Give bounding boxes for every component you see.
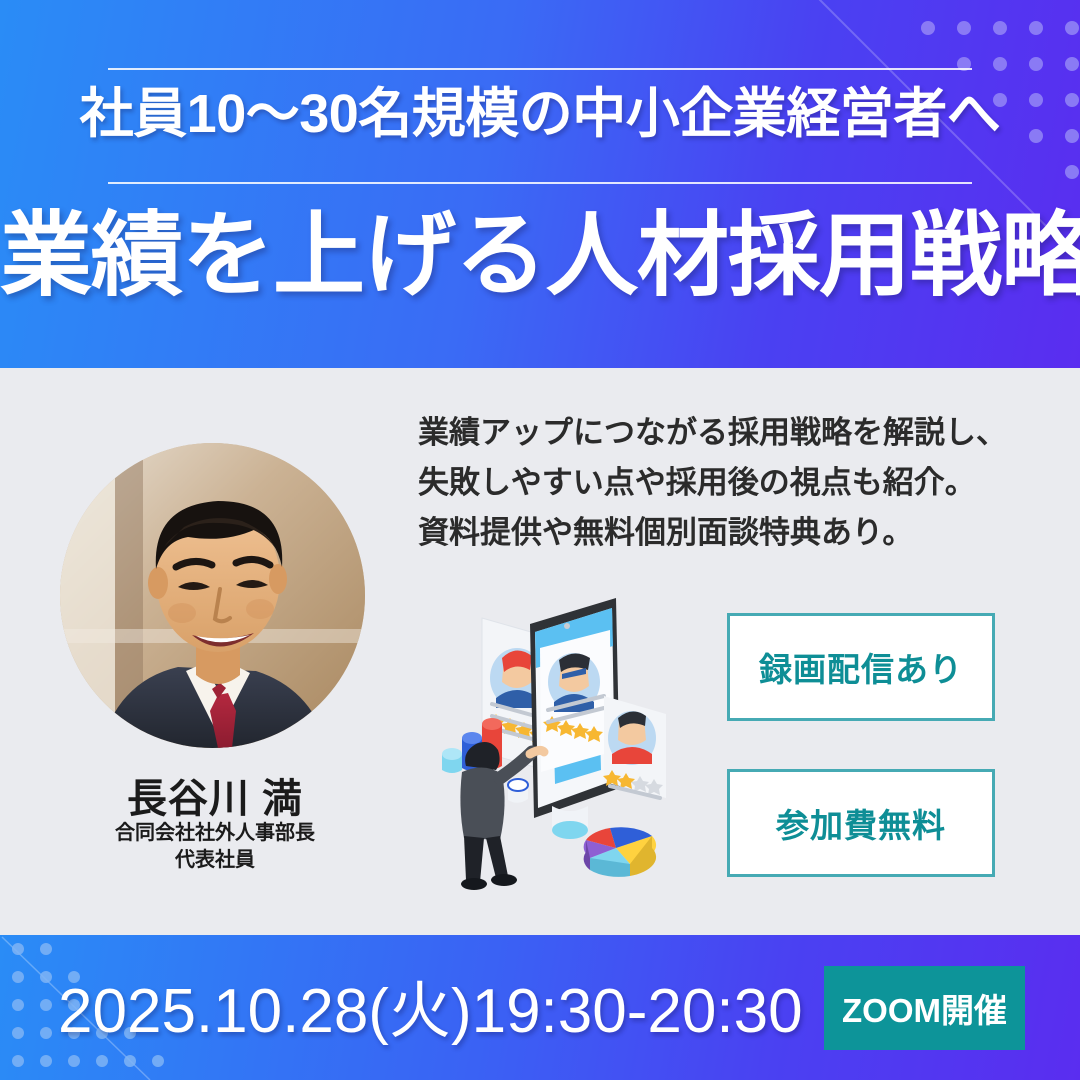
description-line-3: 資料提供や無料個別面談特典あり。	[418, 508, 1038, 558]
seminar-poster: 社員10〜30名規模の中小企業経営者へ 業績を上げる人材採用戦略	[0, 0, 1080, 1080]
header-banner: 社員10〜30名規模の中小企業経営者へ 業績を上げる人材採用戦略	[0, 0, 1080, 368]
speaker-name: 長谷川 満	[0, 766, 430, 824]
zoom-badge: ZOOM開催	[824, 966, 1025, 1050]
description-line-1: 業績アップにつながる採用戦略を解説し、	[418, 408, 1038, 458]
recruitment-illustration	[404, 586, 704, 906]
badge-free-entry: 参加費無料	[727, 769, 995, 877]
subtitle-rule-top	[108, 68, 972, 70]
badge-recording-label: 録画配信あり	[759, 643, 963, 691]
speaker-role-line-2: 代表社員	[0, 847, 430, 874]
speaker-role: 合同会社社外人事部長 代表社員	[0, 820, 430, 874]
subtitle-rule-bottom	[108, 182, 972, 184]
header-subtitle: 社員10〜30名規模の中小企業経営者へ	[0, 86, 1080, 143]
content-area: 長谷川 満 合同会社社外人事部長 代表社員 業績アップにつながる採用戦略を解説し…	[0, 368, 1080, 935]
speaker-role-line-1: 合同会社社外人事部長	[0, 820, 430, 847]
zoom-badge-label: ZOOM開催	[842, 984, 1007, 1032]
description-text: 業績アップにつながる採用戦略を解説し、 失敗しやすい点や採用後の視点も紹介。 資…	[418, 408, 1038, 559]
event-datetime: 2025.10.28(火)19:30-20:30	[58, 960, 803, 1050]
badge-recording: 録画配信あり	[727, 613, 995, 721]
speaker-avatar	[60, 443, 365, 748]
page-title: 業績を上げる人材採用戦略	[0, 208, 1080, 305]
badge-free-entry-label: 参加費無料	[776, 799, 946, 847]
description-line-2: 失敗しやすい点や採用後の視点も紹介。	[418, 458, 1038, 508]
